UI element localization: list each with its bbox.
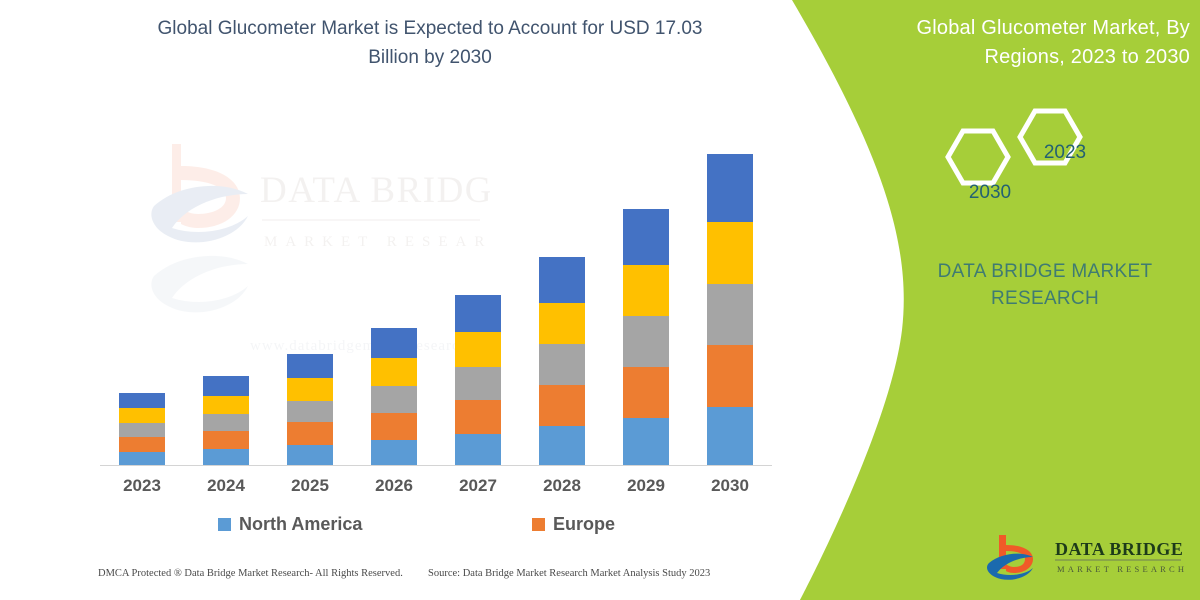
bar-group: [707, 154, 753, 466]
bar-segment: [287, 378, 333, 400]
bar-group: [203, 376, 249, 466]
bar-group: [287, 354, 333, 466]
bar-segment: [623, 367, 669, 418]
bar-segment: [623, 265, 669, 316]
x-axis-tick: 2029: [611, 476, 681, 496]
bar-segment: [371, 413, 417, 441]
legend-swatch-icon: [532, 518, 545, 531]
bar-segment: [287, 354, 333, 379]
hexagon-2030-label: 2030: [955, 182, 1025, 204]
bar-segment: [539, 257, 585, 303]
bar-segment: [119, 393, 165, 408]
bar-segment: [623, 209, 669, 266]
bar-segment: [455, 400, 501, 434]
bar-segment: [623, 316, 669, 366]
bar-segment: [203, 396, 249, 414]
chart-title: Global Glucometer Market is Expected to …: [150, 14, 710, 72]
logo-tagline-text: MARKET RESEARCH: [1057, 564, 1185, 574]
bar-segment: [455, 295, 501, 332]
bar-segment: [371, 386, 417, 413]
bar-segment: [203, 414, 249, 431]
bar-segment: [539, 344, 585, 385]
bar-segment: [539, 426, 585, 466]
bar-segment: [371, 440, 417, 466]
bar-segment: [119, 437, 165, 452]
bar-segment: [287, 401, 333, 422]
bar-segment: [707, 154, 753, 222]
bar-segment: [455, 332, 501, 366]
stacked-bar-chart: [100, 120, 760, 466]
panel-title: Global Glucometer Market, By Regions, 20…: [890, 14, 1190, 72]
bar-group: [119, 393, 165, 466]
bar-segment: [707, 407, 753, 466]
hexagon-2030-shape: [948, 131, 1008, 183]
x-axis-tick: 2027: [443, 476, 513, 496]
bar-segment: [287, 422, 333, 444]
bar-segment: [119, 408, 165, 423]
bar-segment: [203, 376, 249, 395]
bar-segment: [371, 358, 417, 386]
infographic-canvas: Global Glucometer Market, By Regions, 20…: [0, 0, 1200, 600]
bar-group: [539, 257, 585, 466]
bar-segment: [539, 385, 585, 427]
logo-b-mark: [987, 535, 1033, 580]
bar-segment: [119, 423, 165, 437]
legend-item[interactable]: Europe: [532, 514, 615, 535]
x-axis-tick: 2025: [275, 476, 345, 496]
bar-segment: [203, 431, 249, 449]
bar-segment: [455, 367, 501, 400]
bar-segment: [119, 452, 165, 466]
x-axis-tick: 2023: [107, 476, 177, 496]
bar-segment: [707, 284, 753, 345]
x-axis-tick: 2024: [191, 476, 261, 496]
bar-segment: [371, 328, 417, 358]
bar-group: [623, 209, 669, 466]
bar-segment: [707, 345, 753, 407]
panel-brand-text: DATA BRIDGE MARKET RESEARCH: [905, 258, 1185, 312]
data-bridge-logo: DATA BRIDGE MARKET RESEARCH: [985, 533, 1185, 585]
bar-segment: [623, 418, 669, 466]
bar-segment: [539, 303, 585, 345]
bar-segment: [287, 445, 333, 466]
x-axis-tick-labels: 20232024202520262027202820292030: [100, 476, 772, 502]
hexagon-2023-label: 2023: [1030, 142, 1100, 164]
x-axis-tick: 2028: [527, 476, 597, 496]
bar-segment: [707, 222, 753, 284]
legend-label: North America: [239, 514, 362, 535]
bar-segment: [203, 449, 249, 466]
x-axis-tick: 2026: [359, 476, 429, 496]
bar-segment: [455, 434, 501, 466]
chart-legend: North AmericaEurope: [100, 512, 772, 540]
footer-source-text: Source: Data Bridge Market Research Mark…: [428, 568, 710, 579]
footer-dmca-text: DMCA Protected ® Data Bridge Market Rese…: [98, 568, 403, 579]
axis-baseline: [100, 465, 772, 466]
x-axis-tick: 2030: [695, 476, 765, 496]
bar-group: [455, 295, 501, 466]
legend-label: Europe: [553, 514, 615, 535]
logo-title-text: DATA BRIDGE: [1055, 539, 1183, 559]
bar-group: [371, 328, 417, 466]
legend-item[interactable]: North America: [218, 514, 362, 535]
legend-swatch-icon: [218, 518, 231, 531]
